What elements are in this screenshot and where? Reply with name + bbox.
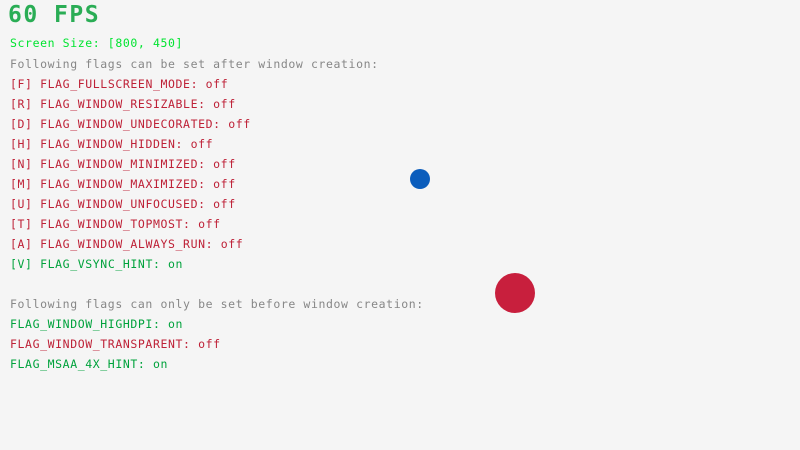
flag-value: on bbox=[168, 317, 183, 331]
blue-ball-shape bbox=[410, 169, 430, 189]
flag-row-flag-window-unfocused[interactable]: [U] FLAG_WINDOW_UNFOCUSED: off bbox=[10, 199, 236, 211]
flag-row-flag-vsync-hint[interactable]: [V] FLAG_VSYNC_HINT: on bbox=[10, 259, 183, 271]
flag-row-flag-fullscreen-mode[interactable]: [F] FLAG_FULLSCREEN_MODE: off bbox=[10, 79, 228, 91]
flag-name: FLAG_MSAA_4X_HINT: bbox=[10, 357, 153, 371]
flag-name: FLAG_WINDOW_ALWAYS_RUN: bbox=[40, 237, 221, 251]
flag-row-flag-window-resizable[interactable]: [R] FLAG_WINDOW_RESIZABLE: off bbox=[10, 99, 236, 111]
flag-row-flag-msaa-4x-hint[interactable]: FLAG_MSAA_4X_HINT: on bbox=[10, 359, 168, 371]
flag-value: on bbox=[153, 357, 168, 371]
flag-name: FLAG_VSYNC_HINT: bbox=[40, 257, 168, 271]
flag-name: FLAG_WINDOW_TOPMOST: bbox=[40, 217, 198, 231]
flag-value: off bbox=[206, 77, 229, 91]
flag-value: off bbox=[221, 237, 244, 251]
flag-value: off bbox=[228, 117, 251, 131]
startup-flags-header: Following flags can only be set before w… bbox=[10, 299, 424, 311]
flag-name: FLAG_WINDOW_MINIMIZED: bbox=[40, 157, 213, 171]
flag-name: FLAG_WINDOW_UNDECORATED: bbox=[40, 117, 228, 131]
flag-value: off bbox=[213, 197, 236, 211]
flag-value: off bbox=[213, 177, 236, 191]
flag-value: off bbox=[191, 137, 214, 151]
flag-row-flag-window-maximized[interactable]: [M] FLAG_WINDOW_MAXIMIZED: off bbox=[10, 179, 236, 191]
red-ball-shape bbox=[495, 273, 535, 313]
flag-row-flag-window-hidden[interactable]: [H] FLAG_WINDOW_HIDDEN: off bbox=[10, 139, 213, 151]
flag-name: FLAG_FULLSCREEN_MODE: bbox=[40, 77, 206, 91]
flag-row-flag-window-minimized[interactable]: [N] FLAG_WINDOW_MINIMIZED: off bbox=[10, 159, 236, 171]
flag-name: FLAG_WINDOW_HIDDEN: bbox=[40, 137, 190, 151]
flag-value: off bbox=[213, 157, 236, 171]
flag-key: [D] bbox=[10, 117, 40, 131]
flag-key: [N] bbox=[10, 157, 40, 171]
flag-value: off bbox=[198, 337, 221, 351]
flag-row-flag-window-topmost[interactable]: [T] FLAG_WINDOW_TOPMOST: off bbox=[10, 219, 221, 231]
flag-name: FLAG_WINDOW_HIGHDPI: bbox=[10, 317, 168, 331]
raylib-window: 60 FPS Screen Size: [800, 450] Following… bbox=[0, 0, 800, 450]
flag-key: [R] bbox=[10, 97, 40, 111]
flag-key: [H] bbox=[10, 137, 40, 151]
flag-key: [M] bbox=[10, 177, 40, 191]
fps-counter: 60 FPS bbox=[8, 4, 100, 27]
runtime-flags-header: Following flags can be set after window … bbox=[10, 59, 379, 71]
flag-key: [T] bbox=[10, 217, 40, 231]
flag-row-flag-window-undecorated[interactable]: [D] FLAG_WINDOW_UNDECORATED: off bbox=[10, 119, 251, 131]
flag-value: off bbox=[213, 97, 236, 111]
flag-name: FLAG_WINDOW_TRANSPARENT: bbox=[10, 337, 198, 351]
flag-row-flag-window-transparent[interactable]: FLAG_WINDOW_TRANSPARENT: off bbox=[10, 339, 221, 351]
flag-value: on bbox=[168, 257, 183, 271]
flag-name: FLAG_WINDOW_MAXIMIZED: bbox=[40, 177, 213, 191]
screen-size-label: Screen Size: [800, 450] bbox=[10, 38, 183, 50]
flag-value: off bbox=[198, 217, 221, 231]
flag-row-flag-window-always-run[interactable]: [A] FLAG_WINDOW_ALWAYS_RUN: off bbox=[10, 239, 243, 251]
flag-key: [A] bbox=[10, 237, 40, 251]
flag-row-flag-window-highdpi[interactable]: FLAG_WINDOW_HIGHDPI: on bbox=[10, 319, 183, 331]
flag-name: FLAG_WINDOW_UNFOCUSED: bbox=[40, 197, 213, 211]
flag-key: [U] bbox=[10, 197, 40, 211]
flag-key: [V] bbox=[10, 257, 40, 271]
flag-name: FLAG_WINDOW_RESIZABLE: bbox=[40, 97, 213, 111]
flag-key: [F] bbox=[10, 77, 40, 91]
